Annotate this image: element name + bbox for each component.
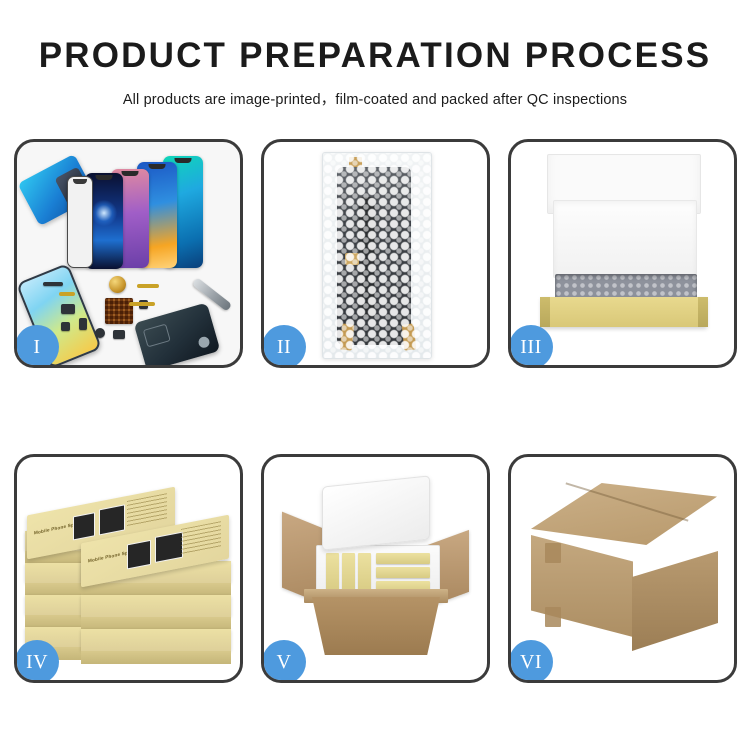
product-preparation-process-page: PRODUCT PREPARATION PROCESS All products… (0, 0, 750, 750)
bubble-texture-secondary (323, 153, 431, 358)
carton-tape-seal (545, 543, 561, 563)
notch-shape (175, 158, 192, 163)
small-part (95, 328, 105, 338)
step-badge-6: VI (509, 640, 553, 683)
yellow-box-item (376, 553, 430, 564)
yellow-box-item (342, 553, 355, 593)
box-stack: Mobile Phone Spare Parts Mobile Phone Sp… (23, 475, 235, 665)
small-part (43, 282, 63, 286)
white-foam-sheet (553, 200, 697, 278)
carton-tape-seal (545, 607, 561, 627)
yellow-box-base (541, 297, 707, 327)
step-badge-2: II (262, 325, 306, 368)
box-window (73, 512, 95, 540)
bubble-wrap-bag (322, 152, 432, 359)
step-badge-5: V (262, 640, 306, 683)
process-step-panel-1: I (14, 139, 243, 368)
notch-shape (122, 171, 139, 176)
box-spec-lines (127, 493, 167, 527)
box-window (155, 532, 183, 563)
phone-back-housing-graphic (134, 302, 221, 365)
small-part (113, 330, 125, 339)
screen-protector-glass (67, 176, 93, 268)
carton-body (312, 597, 440, 655)
process-step-grid: I II (14, 139, 736, 683)
small-part (61, 322, 70, 331)
small-part (79, 318, 87, 330)
page-header: PRODUCT PREPARATION PROCESS All products… (0, 0, 750, 109)
process-step-panel-3: III (508, 139, 737, 368)
yellow-box-item (358, 553, 371, 593)
yellow-box-item (376, 567, 430, 578)
flex-cable-part (59, 292, 75, 296)
process-step-panel-6: VI (508, 454, 737, 683)
step-badge-3: III (509, 325, 553, 368)
stacked-box (81, 629, 231, 651)
small-part (61, 304, 75, 314)
notch-shape (73, 179, 87, 184)
speaker-coil-part (109, 276, 126, 293)
stacked-box (81, 595, 231, 617)
carton-side-face (632, 551, 718, 651)
process-step-panel-5: V (261, 454, 490, 683)
process-step-panel-4: Mobile Phone Spare Parts Mobile Phone Sp… (14, 454, 243, 683)
step-badge-4: IV (15, 640, 59, 683)
flex-cable-part (129, 302, 155, 306)
carton-top-face (531, 483, 717, 545)
foam-lid (322, 475, 430, 550)
box-window (127, 540, 151, 570)
box-window (99, 504, 125, 535)
notch-shape (96, 175, 113, 180)
flex-cable-part (137, 284, 159, 288)
phone-screen-fan (67, 156, 237, 271)
notch-shape (149, 164, 166, 169)
yellow-box-item (326, 553, 339, 593)
process-step-panel-2: II (261, 139, 490, 368)
page-subtitle: All products are image-printed，film-coat… (0, 88, 750, 109)
page-title: PRODUCT PREPARATION PROCESS (0, 38, 750, 73)
step-badge-1: I (15, 325, 59, 368)
box-spec-lines (181, 521, 221, 555)
